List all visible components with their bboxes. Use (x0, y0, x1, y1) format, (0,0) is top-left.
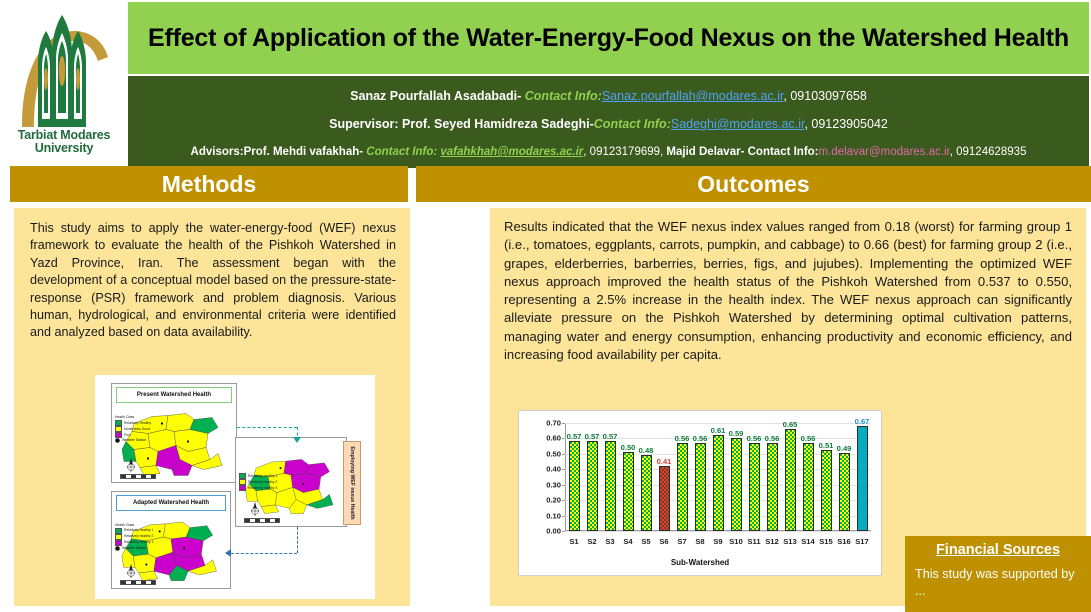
section-header-methods: Methods (10, 166, 408, 202)
watershed-health-figure: Present Watershed Health (95, 375, 375, 599)
chart-bar-slot: 0.57S2 (583, 423, 601, 531)
chart-bar-slot: 0.56S11 (745, 423, 763, 531)
chart-y-tick: 0.20 (546, 496, 561, 505)
chart-bar-slot: 0.41S6 (655, 423, 673, 531)
chart-bar[interactable] (587, 441, 598, 531)
chart-y-tick: 0.50 (546, 449, 561, 458)
university-logo: Tarbiat Modares University (0, 0, 128, 168)
flow-arrow-top (237, 427, 297, 428)
chart-bar[interactable] (695, 443, 706, 531)
supervisor-phone: , 09123905042 (804, 117, 887, 131)
map-adapted-watershed-health: Adapted Watershed Health (111, 491, 231, 589)
methods-body-text: This study aims to apply the water-energ… (30, 220, 396, 342)
section-header-outcomes: Outcomes (416, 166, 1091, 202)
chart-x-tick: S6 (659, 537, 668, 546)
map-present-caption: Present Watershed Health (116, 387, 232, 403)
chart-bar[interactable] (623, 452, 634, 531)
wef-nexus-side-label: Employing WEF nexus Health (343, 441, 361, 525)
chart-bar-value-label: 0.50 (621, 443, 636, 452)
map-present-legend: Health Class Relatively Healthy Moderate… (115, 415, 151, 443)
chart-bar-value-label: 0.56 (801, 434, 816, 443)
legend-swatch-station (115, 438, 120, 443)
chart-y-tick: 0.30 (546, 480, 561, 489)
compass-rose-icon (248, 501, 262, 517)
legend-label: Relatively healthy 1 (248, 474, 277, 479)
chart-bar-slot: 0.51S15 (817, 423, 835, 531)
chart-y-tick: 0.10 (546, 511, 561, 520)
wef-index-bar-chart: 0.000.100.200.300.400.500.600.70 0.57S10… (518, 410, 882, 576)
legend-label: Relatively healthy 3 (248, 486, 277, 491)
chart-bar-value-label: 0.41 (657, 457, 672, 466)
author-email-1[interactable]: Sanaz.pourfallah@modares.ac.ir (602, 89, 784, 103)
author-line-2: Supervisor: Prof. Seyed Hamidreza Sadegh… (128, 117, 1089, 131)
chart-bar[interactable] (569, 441, 580, 531)
compass-rose-icon (124, 563, 138, 579)
chart-bar[interactable] (731, 438, 742, 531)
chart-x-tick: S13 (783, 537, 797, 546)
chart-x-tick: S3 (605, 537, 614, 546)
chart-x-tick: S5 (641, 537, 650, 546)
chart-bar-value-label: 0.57 (585, 432, 600, 441)
chart-bar-slot: 0.65S13 (781, 423, 799, 531)
supervisor-name: Supervisor: Prof. Seyed Hamidreza Sadegh… (329, 117, 594, 131)
author-name-main: Sanaz Pourfallah Asadabadi- (350, 89, 521, 103)
advisor-email-2[interactable]: m.delavar@modares.ac.ir (819, 146, 950, 158)
chart-x-tick: S12 (765, 537, 779, 546)
chart-bar[interactable] (803, 443, 814, 531)
chart-x-tick: S14 (801, 537, 815, 546)
chart-bar[interactable] (857, 426, 868, 531)
financial-sources-text: This study was supported by ... (915, 566, 1085, 600)
chart-bar-value-label: 0.56 (675, 434, 690, 443)
chart-bar-value-label: 0.65 (783, 420, 798, 429)
advisor-name-1: Advisors:Prof. Mehdi vafakhah- (191, 146, 364, 158)
chart-bar[interactable] (641, 455, 652, 531)
chart-x-tick: S1 (569, 537, 578, 546)
compass-rose-icon (124, 457, 138, 473)
legend-label: Relatively healthy 2 (124, 534, 153, 539)
advisor-email-1[interactable]: vafahkhah@modares.ac.ir (440, 146, 583, 158)
chart-bar-value-label: 0.67 (855, 417, 870, 426)
chart-bar-value-label: 0.57 (603, 432, 618, 441)
section-title-outcomes: Outcomes (697, 171, 809, 198)
financial-sources-box: Financial Sources This study was support… (905, 536, 1091, 612)
legend-item: Relatively healthy 3 (239, 485, 277, 491)
chart-bar[interactable] (713, 435, 724, 531)
chart-bar-slot: 0.57S1 (565, 423, 583, 531)
chart-bar[interactable] (659, 466, 670, 531)
authors-band: Sanaz Pourfallah Asadabadi- Contact Info… (128, 76, 1089, 168)
chart-bar-value-label: 0.48 (639, 446, 654, 455)
methods-panel: This study aims to apply the water-energ… (14, 208, 410, 606)
chart-bar-value-label: 0.57 (567, 432, 582, 441)
flow-arrowhead-left (225, 549, 231, 557)
chart-bar[interactable] (785, 429, 796, 531)
map-scale-bar (120, 474, 156, 479)
contact-label-1: Contact Info: (525, 89, 602, 103)
chart-bars: 0.57S10.57S20.57S30.50S40.48S50.41S60.56… (565, 423, 871, 531)
chart-bar-value-label: 0.59 (729, 429, 744, 438)
chart-y-tickmark (562, 531, 565, 532)
legend-label: Relatively healthy 2 (248, 480, 277, 485)
map-center-watershed: Relatively healthy 1 Relatively healthy … (235, 437, 347, 527)
chart-bar-value-label: 0.61 (711, 426, 726, 435)
chart-y-tick: 0.40 (546, 465, 561, 474)
chart-bar-slot: 0.67S17 (853, 423, 871, 531)
logo-line-2: University (8, 142, 120, 155)
flow-arrow-bottom-down (297, 527, 298, 553)
chart-bar-value-label: 0.56 (747, 434, 762, 443)
outcomes-body-text: Results indicated that the WEF nexus ind… (504, 218, 1072, 364)
chart-y-tick: 0.60 (546, 434, 561, 443)
chart-bar-slot: 0.59S10 (727, 423, 745, 531)
chart-bar[interactable] (677, 443, 688, 531)
map-scale-bar (120, 580, 156, 585)
chart-x-axis-title: Sub-Watershed (519, 558, 881, 567)
chart-bar[interactable] (749, 443, 760, 531)
legend-label: Relatively healthy 1 (124, 528, 153, 533)
contact-label-4: Contact Info: (748, 146, 819, 158)
chart-x-tick: S9 (713, 537, 722, 546)
financial-sources-title: Financial Sources (905, 542, 1091, 558)
legend-label: Relatively Healthy (124, 421, 151, 426)
legend-swatch-purple (239, 485, 246, 491)
flow-arrow-bottom (231, 553, 297, 554)
chart-bar-value-label: 0.56 (693, 434, 708, 443)
chart-bar-slot: 0.56S12 (763, 423, 781, 531)
chart-x-tick: S11 (747, 537, 760, 546)
chart-x-tick: S15 (819, 537, 833, 546)
chart-bar-slot: 0.48S5 (637, 423, 655, 531)
logo-wordmark: Tarbiat Modares University (8, 129, 120, 155)
chart-bar-slot: 0.56S8 (691, 423, 709, 531)
chart-gridline (565, 531, 871, 532)
author-line-3: Advisors:Prof. Mehdi vafakhah- Contact I… (128, 146, 1089, 158)
page-title: Effect of Application of the Water-Energ… (148, 24, 1069, 53)
legend-label: Moderately Good (124, 427, 150, 432)
chart-bar-slot: 0.56S14 (799, 423, 817, 531)
chart-x-tick: S8 (695, 537, 704, 546)
chart-x-tick: S4 (623, 537, 632, 546)
flow-arrowhead-down (293, 437, 301, 443)
wef-nexus-side-label-text: Employing WEF nexus Health (349, 446, 355, 519)
contact-label-2: Contact Info: (594, 117, 671, 131)
chart-bar-slot: 0.49S16 (835, 423, 853, 531)
chart-x-tick: S10 (729, 537, 743, 546)
supervisor-email[interactable]: Sadeghi@modares.ac.ir (671, 117, 805, 131)
legend-label: Poor (124, 433, 131, 438)
chart-bar-value-label: 0.49 (837, 444, 852, 453)
chart-bar-value-label: 0.51 (819, 441, 834, 450)
chart-x-tick: S2 (587, 537, 596, 546)
legend-label: Relatively healthy 3 (124, 540, 153, 545)
advisor-name-2: Majid Delavar- (666, 146, 744, 158)
chart-bar-value-label: 0.56 (765, 434, 780, 443)
map-present-watershed-health: Present Watershed Health (111, 383, 237, 483)
legend-swatch-purple (115, 540, 122, 546)
map-scale-bar (244, 518, 280, 523)
advisor-phone-1: , 09123179699, (583, 146, 666, 158)
chart-bar-slot: 0.57S3 (601, 423, 619, 531)
legend-label: Weather Station (122, 438, 146, 443)
chart-bar[interactable] (821, 450, 832, 531)
chart-bar-slot: 0.50S4 (619, 423, 637, 531)
chart-plot-area: 0.000.100.200.300.400.500.600.70 0.57S10… (565, 423, 871, 531)
chart-y-tick: 0.70 (546, 419, 561, 428)
chart-x-tick: S17 (855, 537, 869, 546)
chart-bar-slot: 0.61S9 (709, 423, 727, 531)
map-adapted-legend: Health Class Relatively healthy 1 Relati… (115, 523, 153, 551)
contact-label-3: Contact Info: (366, 146, 437, 158)
chart-x-tick: S16 (837, 537, 851, 546)
chart-bar[interactable] (839, 453, 850, 531)
tarbiat-modares-logo-icon (8, 9, 120, 131)
legend-item: Weather Station (115, 438, 151, 443)
chart-bar-slot: 0.56S7 (673, 423, 691, 531)
author-line-1: Sanaz Pourfallah Asadabadi- Contact Info… (128, 89, 1089, 103)
poster-root: Tarbiat Modares University Effect of App… (0, 0, 1091, 612)
author-phone-1: , 09103097658 (783, 89, 866, 103)
section-title-methods: Methods (162, 171, 257, 198)
legend-label: Weather Station (122, 546, 146, 551)
chart-bar[interactable] (767, 443, 778, 531)
advisor-phone-2: , 09124628935 (950, 146, 1027, 158)
legend-item: Weather Station (115, 546, 153, 551)
poster-title-band: Effect of Application of the Water-Energ… (128, 2, 1089, 74)
map-center-legend: Relatively healthy 1 Relatively healthy … (239, 473, 277, 491)
chart-y-tick: 0.00 (546, 527, 561, 536)
logo-graphic: Tarbiat Modares University (8, 9, 120, 159)
legend-swatch-station (115, 546, 120, 551)
map-adapted-caption: Adapted Watershed Health (116, 495, 226, 511)
chart-x-tick: S7 (677, 537, 686, 546)
chart-bar[interactable] (605, 441, 616, 531)
